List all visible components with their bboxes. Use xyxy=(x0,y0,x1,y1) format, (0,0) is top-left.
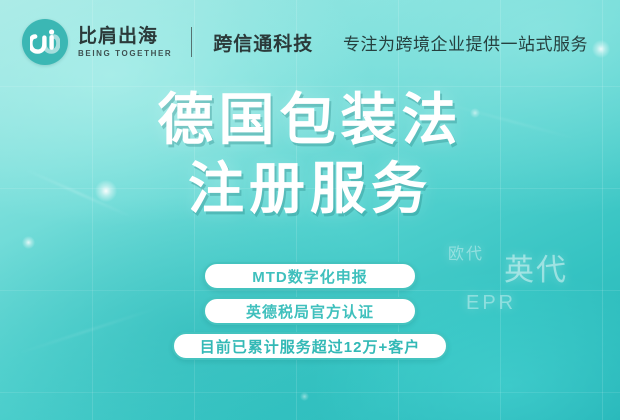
feature-pill-customer-count[interactable]: 目前已累计服务超过12万+客户 xyxy=(172,332,448,360)
feature-pill-certification[interactable]: 英德税局官方认证 xyxy=(203,297,417,325)
brand-lockup[interactable]: 比肩出海 BEING TOGETHER 跨信通科技 xyxy=(22,19,313,65)
ghost-keyword-oudai: 欧代 xyxy=(448,240,484,264)
banner-header: 比肩出海 BEING TOGETHER 跨信通科技 专注为跨境企业提供一站式服务 xyxy=(0,0,620,84)
hero-title-line-2: 注册服务 xyxy=(0,155,620,224)
feature-pill-label: 英德税局官方认证 xyxy=(246,301,374,322)
glow-dot-icon xyxy=(300,392,309,401)
being-together-circle-logo-icon xyxy=(22,19,68,65)
hero-title: 德国包装法 注册服务 xyxy=(0,86,620,224)
header-tagline: 专注为跨境企业提供一站式服务 xyxy=(343,30,598,55)
feature-pill-label: 目前已累计服务超过12万+客户 xyxy=(200,336,420,357)
brand-tagline-en: BEING TOGETHER xyxy=(78,50,172,58)
brand-alt-name: 跨信通科技 xyxy=(213,29,313,56)
brand-divider xyxy=(191,27,192,57)
feature-pill-list: MTD数字化申报 英德税局官方认证 目前已累计服务超过12万+客户 xyxy=(0,262,620,360)
brand-name: 比肩出海 xyxy=(78,27,172,46)
feature-pill-label: MTD数字化申报 xyxy=(252,266,368,287)
promo-banner: 欧代 英代 EPR 比肩出海 BEING TOGETHER 跨信通科技 专注为跨… xyxy=(0,0,620,420)
brand-text-block: 比肩出海 BEING TOGETHER xyxy=(78,27,172,58)
glow-dot-icon xyxy=(22,236,35,249)
feature-pill-mtd[interactable]: MTD数字化申报 xyxy=(203,262,417,290)
hero-title-line-1: 德国包装法 xyxy=(0,86,620,155)
